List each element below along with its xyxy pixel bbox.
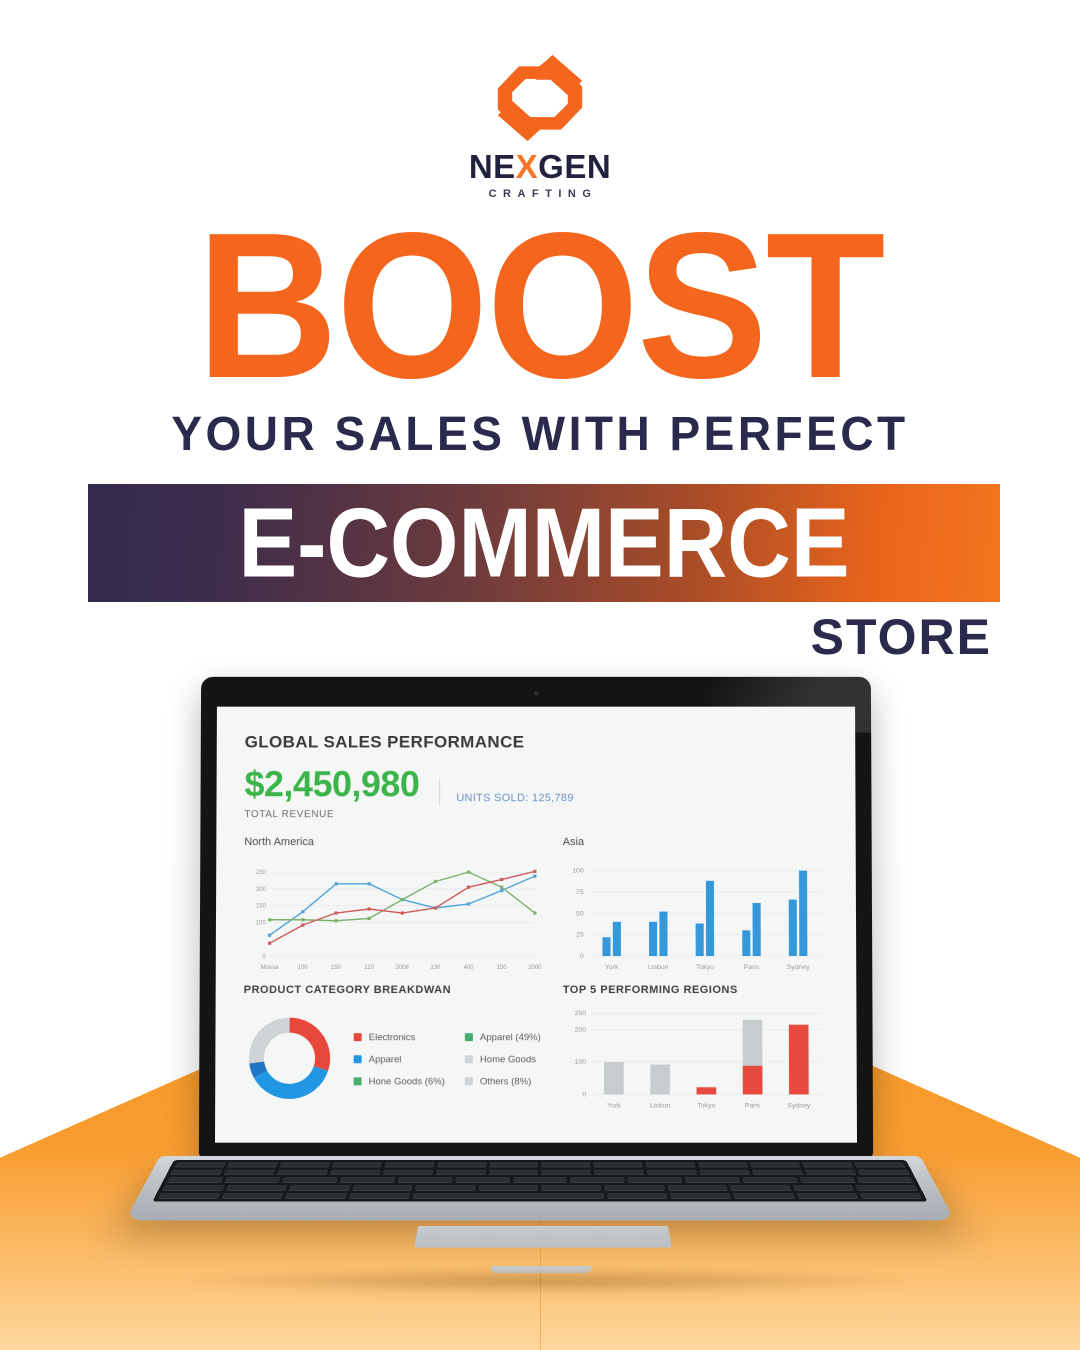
- headline-subline: YOUR SALES WITH PERFECT: [0, 405, 1080, 462]
- chart-north-america: North America 0100150200250Monsa10015012…: [244, 836, 541, 974]
- keyboard-key[interactable]: [276, 1169, 328, 1175]
- laptop-base: [118, 1148, 963, 1276]
- keyboard-key[interactable]: [478, 1185, 538, 1191]
- legend-swatch-icon: [465, 1055, 473, 1063]
- legend-item: Apparel (49%): [465, 1032, 541, 1043]
- chart-top-regions-title: TOP 5 PERFORMING REGIONS: [563, 984, 829, 996]
- keyboard-key[interactable]: [594, 1169, 644, 1175]
- chart-category-title: PRODUCT CATEGORY BREAKDWAN: [244, 984, 541, 996]
- legend-swatch-icon: [465, 1077, 473, 1085]
- keyboard-key[interactable]: [488, 1169, 538, 1175]
- chart-asia-title: Asia: [563, 836, 828, 848]
- keyboard-key[interactable]: [541, 1162, 590, 1168]
- chart-asia-canvas: 0255075100YorkLisbonTokyoParisSydney: [563, 856, 828, 974]
- svg-text:Lisbon: Lisbon: [650, 1103, 671, 1110]
- keyboard-key[interactable]: [670, 1193, 731, 1199]
- keyboard-key[interactable]: [802, 1162, 854, 1168]
- svg-text:100: 100: [298, 965, 309, 971]
- charts-grid: North America 0100150200250Monsa10015012…: [243, 836, 829, 1112]
- svg-text:150: 150: [497, 965, 508, 971]
- legend-label: Electronics: [369, 1032, 416, 1043]
- legend-label: Others (8%): [480, 1076, 531, 1087]
- svg-text:100: 100: [256, 920, 267, 926]
- keyboard-key[interactable]: [329, 1169, 380, 1175]
- keyboard-key[interactable]: [225, 1185, 287, 1191]
- legend-swatch-icon: [354, 1077, 362, 1085]
- keyboard-key[interactable]: [855, 1185, 918, 1191]
- keyboard-key[interactable]: [339, 1177, 395, 1183]
- legend-item: Others (8%): [465, 1076, 541, 1087]
- brand-wordmark: NEXGEN: [469, 150, 611, 183]
- keyboard-key[interactable]: [158, 1193, 221, 1199]
- legend-label: Apparel (49%): [480, 1032, 541, 1043]
- svg-text:Lisbon: Lisbon: [648, 964, 669, 971]
- laptop-shadow: [178, 1268, 918, 1294]
- keyboard-key[interactable]: [289, 1185, 351, 1191]
- keyboard-key[interactable]: [224, 1177, 281, 1183]
- keyboard-key[interactable]: [805, 1169, 857, 1175]
- keyboard-key[interactable]: [570, 1177, 625, 1183]
- keyboard-key[interactable]: [489, 1162, 538, 1168]
- keyboard-key[interactable]: [352, 1185, 413, 1191]
- keyboard-key[interactable]: [667, 1185, 728, 1191]
- keyboard-key[interactable]: [857, 1169, 910, 1175]
- keyboard-key[interactable]: [227, 1162, 279, 1168]
- revenue-kpi: $2,450,980 TOTAL REVENUE: [244, 766, 419, 820]
- chart-category-breakdown: PRODUCT CATEGORY BREAKDWAN Electronics A…: [243, 984, 541, 1112]
- brand-name-part2: GEN: [538, 148, 611, 185]
- brand-name-part1: NE: [469, 148, 516, 185]
- keyboard-key[interactable]: [646, 1162, 696, 1168]
- kpi-divider: [439, 778, 440, 806]
- keyboard-key[interactable]: [174, 1162, 226, 1168]
- dashboard: GLOBAL SALES PERFORMANCE $2,450,980 TOTA…: [215, 707, 857, 1143]
- keyboard-key[interactable]: [542, 1185, 602, 1191]
- keyboard-key[interactable]: [647, 1169, 698, 1175]
- keyboard-key[interactable]: [412, 1193, 604, 1199]
- chart-asia: Asia 0255075100YorkLisbonTokyoParisSydne…: [563, 836, 828, 974]
- units-sold-value: UNITS SOLD: 125,789: [456, 792, 573, 804]
- keyboard-row: [170, 1162, 910, 1168]
- brand-name-x: X: [516, 148, 539, 185]
- keyboard-key[interactable]: [742, 1177, 798, 1183]
- keyboard-key[interactable]: [752, 1169, 804, 1175]
- keyboard-key[interactable]: [698, 1162, 749, 1168]
- legend-item: Apparel: [354, 1054, 445, 1065]
- chart-top-regions: TOP 5 PERFORMING REGIONS 0100200250YorkL…: [563, 984, 829, 1112]
- keyboard-row: [154, 1193, 927, 1199]
- svg-text:130: 130: [430, 965, 441, 971]
- keyboard-key[interactable]: [166, 1177, 223, 1183]
- keyboard-key[interactable]: [859, 1193, 922, 1199]
- svg-text:2000: 2000: [528, 965, 541, 971]
- keyboard-key[interactable]: [799, 1177, 856, 1183]
- ecommerce-banner: E-COMMERCE: [88, 484, 1000, 602]
- keyboard-key[interactable]: [750, 1162, 801, 1168]
- keyboard-key[interactable]: [332, 1162, 383, 1168]
- keyboard-key[interactable]: [170, 1169, 223, 1175]
- headline-ecommerce: E-COMMERCE: [238, 494, 849, 593]
- keyboard-key[interactable]: [282, 1177, 338, 1183]
- keyboard-key[interactable]: [384, 1162, 434, 1168]
- svg-text:200: 200: [256, 887, 267, 893]
- chart-top-regions-canvas: 0100200250YorkLisbonTokyoParisSydney: [563, 1004, 829, 1112]
- laptop-mockup: GLOBAL SALES PERFORMANCE $2,450,980 TOTA…: [118, 676, 963, 1276]
- svg-text:York: York: [607, 1103, 621, 1110]
- revenue-label: TOTAL REVENUE: [244, 809, 419, 820]
- keyboard-key[interactable]: [604, 1185, 665, 1191]
- svg-text:200: 200: [574, 1027, 586, 1034]
- svg-text:400: 400: [464, 965, 475, 971]
- keyboard-key[interactable]: [162, 1185, 225, 1191]
- svg-text:Sydney: Sydney: [786, 964, 810, 971]
- legend-label: Apparel: [369, 1054, 402, 1065]
- category-legend: Electronics Apparel (49%) Apparel Home G…: [354, 1032, 541, 1087]
- keyboard-key[interactable]: [221, 1193, 284, 1199]
- laptop-screen: GLOBAL SALES PERFORMANCE $2,450,980 TOTA…: [215, 707, 857, 1143]
- legend-label: Hone Goods (6%): [369, 1076, 445, 1087]
- keyboard-key[interactable]: [382, 1169, 433, 1175]
- donut-chart: [243, 1012, 336, 1104]
- keyboard-key[interactable]: [455, 1177, 510, 1183]
- keyboard-key[interactable]: [541, 1169, 591, 1175]
- svg-text:Paris: Paris: [745, 1103, 761, 1110]
- keyboard-key[interactable]: [415, 1185, 476, 1191]
- keyboard-key[interactable]: [792, 1185, 854, 1191]
- svg-text:0: 0: [262, 954, 266, 960]
- keyboard-key[interactable]: [349, 1193, 410, 1199]
- keyboard-key[interactable]: [594, 1162, 644, 1168]
- donut-wrap: Electronics Apparel (49%) Apparel Home G…: [243, 1004, 541, 1112]
- laptop-lid: GLOBAL SALES PERFORMANCE $2,450,980 TOTA…: [199, 677, 873, 1157]
- keyboard-key[interactable]: [607, 1193, 668, 1199]
- svg-text:Monsa: Monsa: [261, 965, 279, 971]
- webcam-icon: [534, 691, 539, 696]
- keyboard-key[interactable]: [857, 1177, 914, 1183]
- keyboard-key[interactable]: [279, 1162, 330, 1168]
- keyboard-key[interactable]: [627, 1177, 682, 1183]
- svg-text:Sydney: Sydney: [787, 1103, 811, 1110]
- legend-swatch-icon: [354, 1033, 362, 1041]
- headline-store: STORE: [811, 608, 992, 666]
- headline-boost: BOOST: [0, 211, 1080, 402]
- legend-item: Electronics: [354, 1032, 445, 1043]
- svg-text:Tokyo: Tokyo: [697, 1103, 716, 1110]
- svg-text:150: 150: [256, 904, 267, 910]
- svg-text:Paris: Paris: [743, 964, 759, 971]
- chart-north-america-canvas: 0100150200250Monsa1001501202008130400150…: [244, 856, 541, 974]
- svg-text:0: 0: [580, 953, 584, 960]
- revenue-value: $2,450,980: [244, 766, 419, 802]
- keyboard-key[interactable]: [437, 1162, 487, 1168]
- brand-logo: NEXGEN CRAFTING: [0, 52, 1080, 200]
- legend-swatch-icon: [465, 1033, 473, 1041]
- laptop-trackpad[interactable]: [414, 1226, 672, 1248]
- keyboard-key[interactable]: [854, 1162, 906, 1168]
- keyboard-key[interactable]: [285, 1193, 347, 1199]
- kpi-row: $2,450,980 TOTAL REVENUE UNITS SOLD: 125…: [244, 766, 827, 820]
- svg-text:75: 75: [576, 889, 584, 895]
- keyboard-row: [162, 1177, 918, 1183]
- svg-text:100: 100: [574, 1059, 586, 1066]
- keyboard-key[interactable]: [397, 1177, 452, 1183]
- keyboard-key[interactable]: [699, 1169, 750, 1175]
- headline-group: BOOST YOUR SALES WITH PERFECT: [0, 216, 1080, 460]
- svg-text:150: 150: [331, 965, 342, 971]
- svg-text:York: York: [605, 964, 619, 971]
- keyboard-key[interactable]: [730, 1185, 792, 1191]
- svg-text:120: 120: [364, 965, 375, 971]
- dashboard-title: GLOBAL SALES PERFORMANCE: [245, 733, 828, 753]
- keyboard-key[interactable]: [796, 1193, 859, 1199]
- svg-text:100: 100: [572, 868, 584, 874]
- svg-text:250: 250: [256, 870, 267, 876]
- legend-swatch-icon: [354, 1055, 362, 1063]
- keyboard-row: [158, 1185, 922, 1191]
- nexgen-s-mark-icon: [492, 52, 588, 144]
- svg-text:0: 0: [582, 1092, 586, 1099]
- keyboard-key[interactable]: [435, 1169, 485, 1175]
- svg-text:50: 50: [576, 911, 584, 917]
- legend-item: Home Goods: [465, 1054, 541, 1065]
- legend-label: Home Goods: [480, 1054, 536, 1065]
- chart-north-america-title: North America: [244, 836, 540, 848]
- keyboard-row: [166, 1169, 914, 1175]
- svg-text:25: 25: [576, 932, 584, 938]
- svg-text:250: 250: [574, 1011, 586, 1018]
- laptop-keyboard[interactable]: [152, 1160, 927, 1202]
- keyboard-key[interactable]: [733, 1193, 795, 1199]
- svg-text:2008: 2008: [396, 965, 410, 971]
- keyboard-key[interactable]: [685, 1177, 741, 1183]
- keyboard-key[interactable]: [223, 1169, 275, 1175]
- legend-item: Hone Goods (6%): [354, 1076, 445, 1087]
- keyboard-key[interactable]: [513, 1177, 568, 1183]
- svg-text:Tokyo: Tokyo: [696, 964, 715, 971]
